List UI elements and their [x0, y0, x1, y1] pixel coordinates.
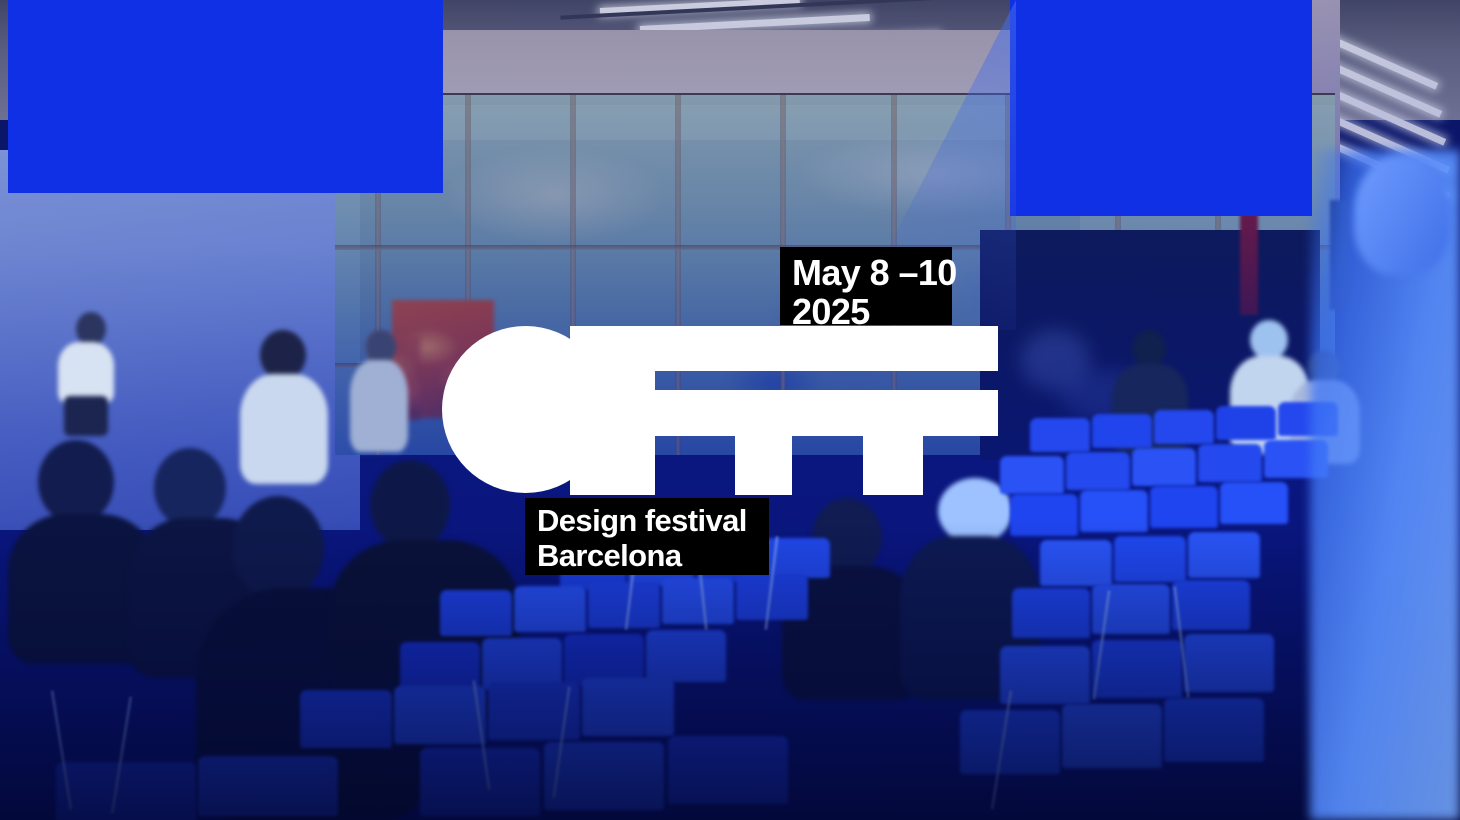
offf-logo	[442, 326, 998, 495]
offf-logo-top-bar	[570, 326, 998, 371]
offf-logo-stem-3	[863, 436, 923, 495]
offf-logo-stem-1	[570, 436, 655, 495]
foreground-figure-head	[1354, 155, 1450, 275]
festival-tagline-line-2: Barcelona	[537, 538, 682, 573]
blue-rect-top-left	[8, 0, 443, 193]
blue-rect-top-right	[1010, 0, 1312, 216]
festival-tagline-line-1: Design festival	[537, 503, 747, 538]
offf-festival-poster: May 8 –102025 Design festivalBarcelona	[0, 0, 1460, 820]
festival-dates-line-2: 2025	[792, 291, 870, 332]
offf-logo-stem-2	[735, 436, 792, 495]
festival-tagline-box: Design festivalBarcelona	[525, 498, 769, 575]
festival-dates-box: May 8 –102025	[780, 247, 952, 325]
festival-dates-line-1: May 8 –10	[792, 252, 957, 293]
offf-logo-stem-1-upper	[570, 371, 655, 390]
offf-logo-middle-bar	[570, 390, 998, 436]
